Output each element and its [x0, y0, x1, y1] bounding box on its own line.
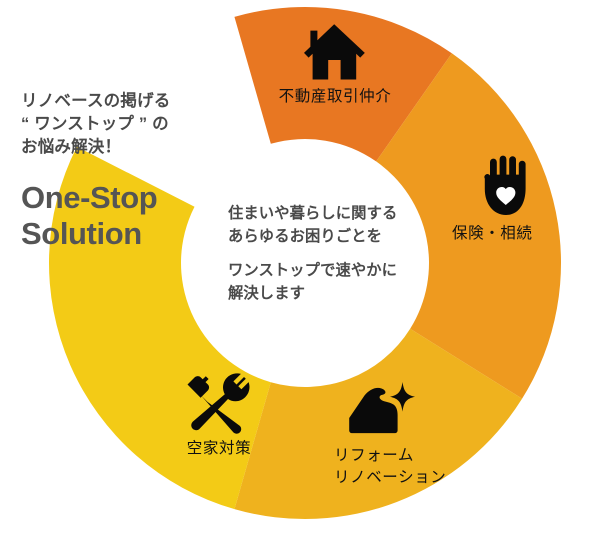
page-title-line-2: Solution [21, 216, 236, 251]
page-title-line-1: One-Stop [21, 180, 236, 215]
center-paragraph2-line-1: ワンストップで速やかに [228, 260, 443, 283]
page-title: One-Stop Solution [21, 180, 236, 251]
lead-line-3: お悩み解決！ [21, 136, 236, 159]
center-copy-spacer [228, 249, 443, 260]
lead-line-2: “ ワンストップ ” の [21, 113, 236, 136]
center-paragraph2-line-2: 解決します [228, 283, 443, 306]
center-copy-block: 住まいや暮らしに関する あらゆるお困りごとを ワンストップで速やかに 解決します [228, 203, 443, 306]
left-headline-block: リノベースの掲げる “ ワンストップ ” の お悩み解決！ One-Stop S… [21, 90, 236, 251]
infographic-canvas: リノベースの掲げる “ ワンストップ ” の お悩み解決！ One-Stop S… [0, 0, 600, 533]
center-paragraph1-line-1: 住まいや暮らしに関する [228, 203, 443, 226]
center-paragraph1-line-2: あらゆるお困りごとを [228, 226, 443, 249]
lead-line-1: リノベースの掲げる [21, 90, 236, 113]
